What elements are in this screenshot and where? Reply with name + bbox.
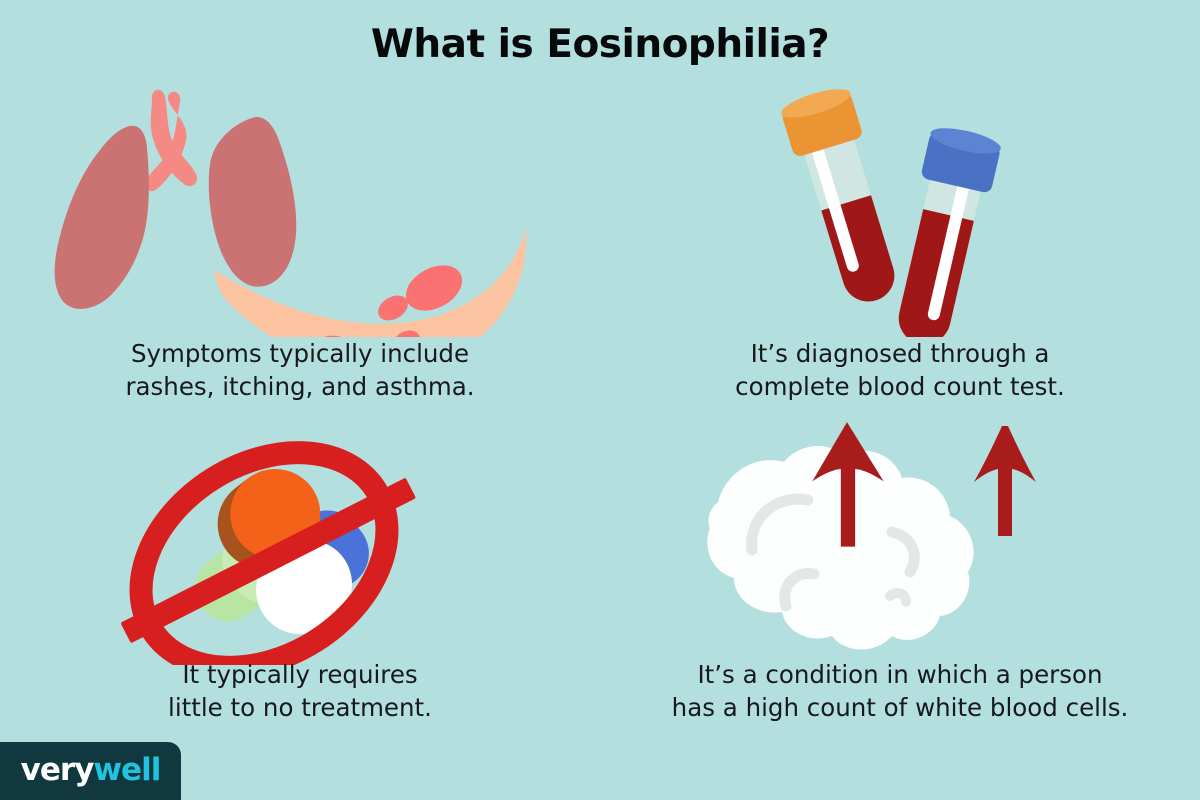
caption-line: rashes, itching, and asthma. — [0, 370, 600, 403]
caption-line: has a high count of white blood cells. — [600, 691, 1200, 724]
caption-line: Symptoms typically include — [0, 337, 600, 370]
verywell-wordmark: verywell — [21, 755, 161, 788]
cell-treatment: It typically requires little to no treat… — [0, 410, 600, 740]
cell-symptoms: Symptoms typically include rashes, itchi… — [0, 82, 600, 412]
caption-line: complete blood count test. — [600, 370, 1200, 403]
arrow-head-and-shaft — [974, 426, 1036, 536]
lungs-and-skin-rash-icon — [0, 82, 600, 337]
caption-line: little to no treatment. — [0, 691, 600, 724]
caption-line: It typically requires — [0, 658, 600, 691]
verywell-logo-badge[interactable]: verywell — [0, 742, 181, 800]
cell-definition: It’s a condition in which a person has a… — [600, 410, 1200, 740]
white-blood-cell-up-arrow-icon — [600, 410, 1200, 665]
logo-text-well: well — [93, 752, 160, 788]
page-title: What is Eosinophilia? — [0, 22, 1200, 69]
up-arrow-group — [974, 426, 1036, 536]
caption-definition: It’s a condition in which a person has a… — [600, 658, 1200, 724]
cell-diagnosis: It’s diagnosed through a complete blood … — [600, 82, 1200, 412]
logo-text-very: very — [21, 752, 94, 788]
left-lung-shape — [55, 126, 149, 309]
caption-line: It’s a condition in which a person — [600, 658, 1200, 691]
blood-test-tubes-icon — [600, 82, 1200, 337]
caption-diagnosis: It’s diagnosed through a complete blood … — [600, 337, 1200, 403]
right-lung-shape — [209, 117, 297, 287]
test-tube-blue — [884, 123, 1003, 337]
test-tube-orange — [778, 83, 910, 311]
caption-treatment: It typically requires little to no treat… — [0, 658, 600, 724]
caption-symptoms: Symptoms typically include rashes, itchi… — [0, 337, 600, 403]
no-pills-icon — [0, 410, 600, 665]
infographic-canvas: What is Eosinophilia? — [0, 0, 1200, 800]
caption-line: It’s diagnosed through a — [600, 337, 1200, 370]
